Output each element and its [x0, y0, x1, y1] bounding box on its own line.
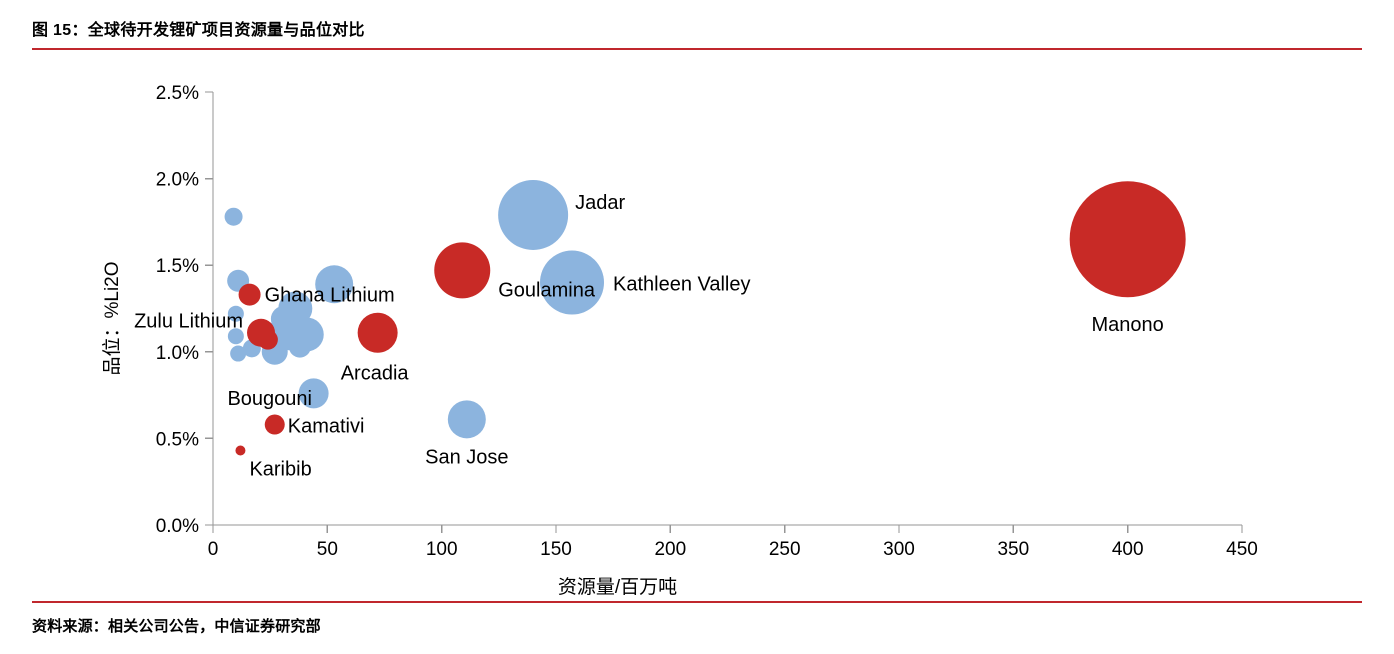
bubble-label: Jadar	[575, 192, 625, 214]
x-tick-label: 250	[769, 539, 801, 560]
x-axis-ticks: 050100150200250300350400450	[208, 525, 1258, 560]
x-tick-label: 200	[654, 539, 686, 560]
source-note: 资料来源：相关公司公告，中信证券研究部	[32, 615, 321, 636]
axis-lines	[213, 92, 1242, 525]
figure-title: 图 15：全球待开发锂矿项目资源量与品位对比	[32, 16, 365, 40]
y-tick-label: 0.0%	[156, 516, 199, 537]
bubble-point	[498, 180, 568, 250]
bubble-label: Ghana Lithium	[265, 285, 395, 307]
bubble-label: Goulamina	[498, 279, 596, 301]
y-tick-label: 1.0%	[156, 343, 199, 364]
title-divider	[32, 48, 1362, 50]
bubble-point	[358, 313, 398, 353]
bubble-label: Bougouni	[227, 388, 312, 410]
x-tick-label: 100	[426, 539, 458, 560]
bubble-point	[230, 346, 246, 362]
y-tick-label: 2.0%	[156, 170, 199, 191]
y-tick-label: 2.5%	[156, 83, 199, 104]
footer-divider	[32, 601, 1362, 603]
bubble-point	[1070, 181, 1186, 297]
bubble-label: Zulu Lithium	[134, 311, 243, 333]
bubble-point	[434, 242, 490, 298]
bubble-point	[225, 208, 243, 226]
bubble-label: Kamativi	[288, 416, 365, 438]
bubble-label: Arcadia	[341, 363, 410, 385]
bubble-point	[265, 415, 285, 435]
bubble-label: San Jose	[425, 446, 508, 468]
y-tick-label: 1.5%	[156, 256, 199, 277]
x-tick-label: 0	[208, 539, 219, 560]
bubble-series	[225, 180, 1186, 456]
x-axis-title: 资源量/百万吨	[558, 576, 677, 595]
x-tick-label: 350	[997, 539, 1029, 560]
bubble-point	[255, 323, 271, 339]
x-tick-label: 50	[317, 539, 338, 560]
x-tick-label: 400	[1112, 539, 1144, 560]
bubble-point	[235, 446, 245, 456]
x-tick-label: 450	[1226, 539, 1258, 560]
bubble-point	[289, 336, 311, 358]
bubble-point	[448, 400, 486, 438]
y-tick-label: 0.5%	[156, 429, 199, 450]
bubble-point	[239, 284, 261, 306]
bubble-label: Karibib	[249, 459, 311, 481]
x-tick-label: 300	[883, 539, 915, 560]
chart-container: 0.0%0.5%1.0%1.5%2.0%2.5% 050100150200250…	[0, 55, 1394, 595]
bubble-label: Kathleen Valley	[613, 274, 751, 296]
x-tick-label: 150	[540, 539, 572, 560]
bubble-chart: 0.0%0.5%1.0%1.5%2.0%2.5% 050100150200250…	[0, 55, 1394, 595]
y-axis-title: 品位：%Li2O	[101, 261, 123, 375]
bubble-label: Manono	[1092, 314, 1164, 336]
